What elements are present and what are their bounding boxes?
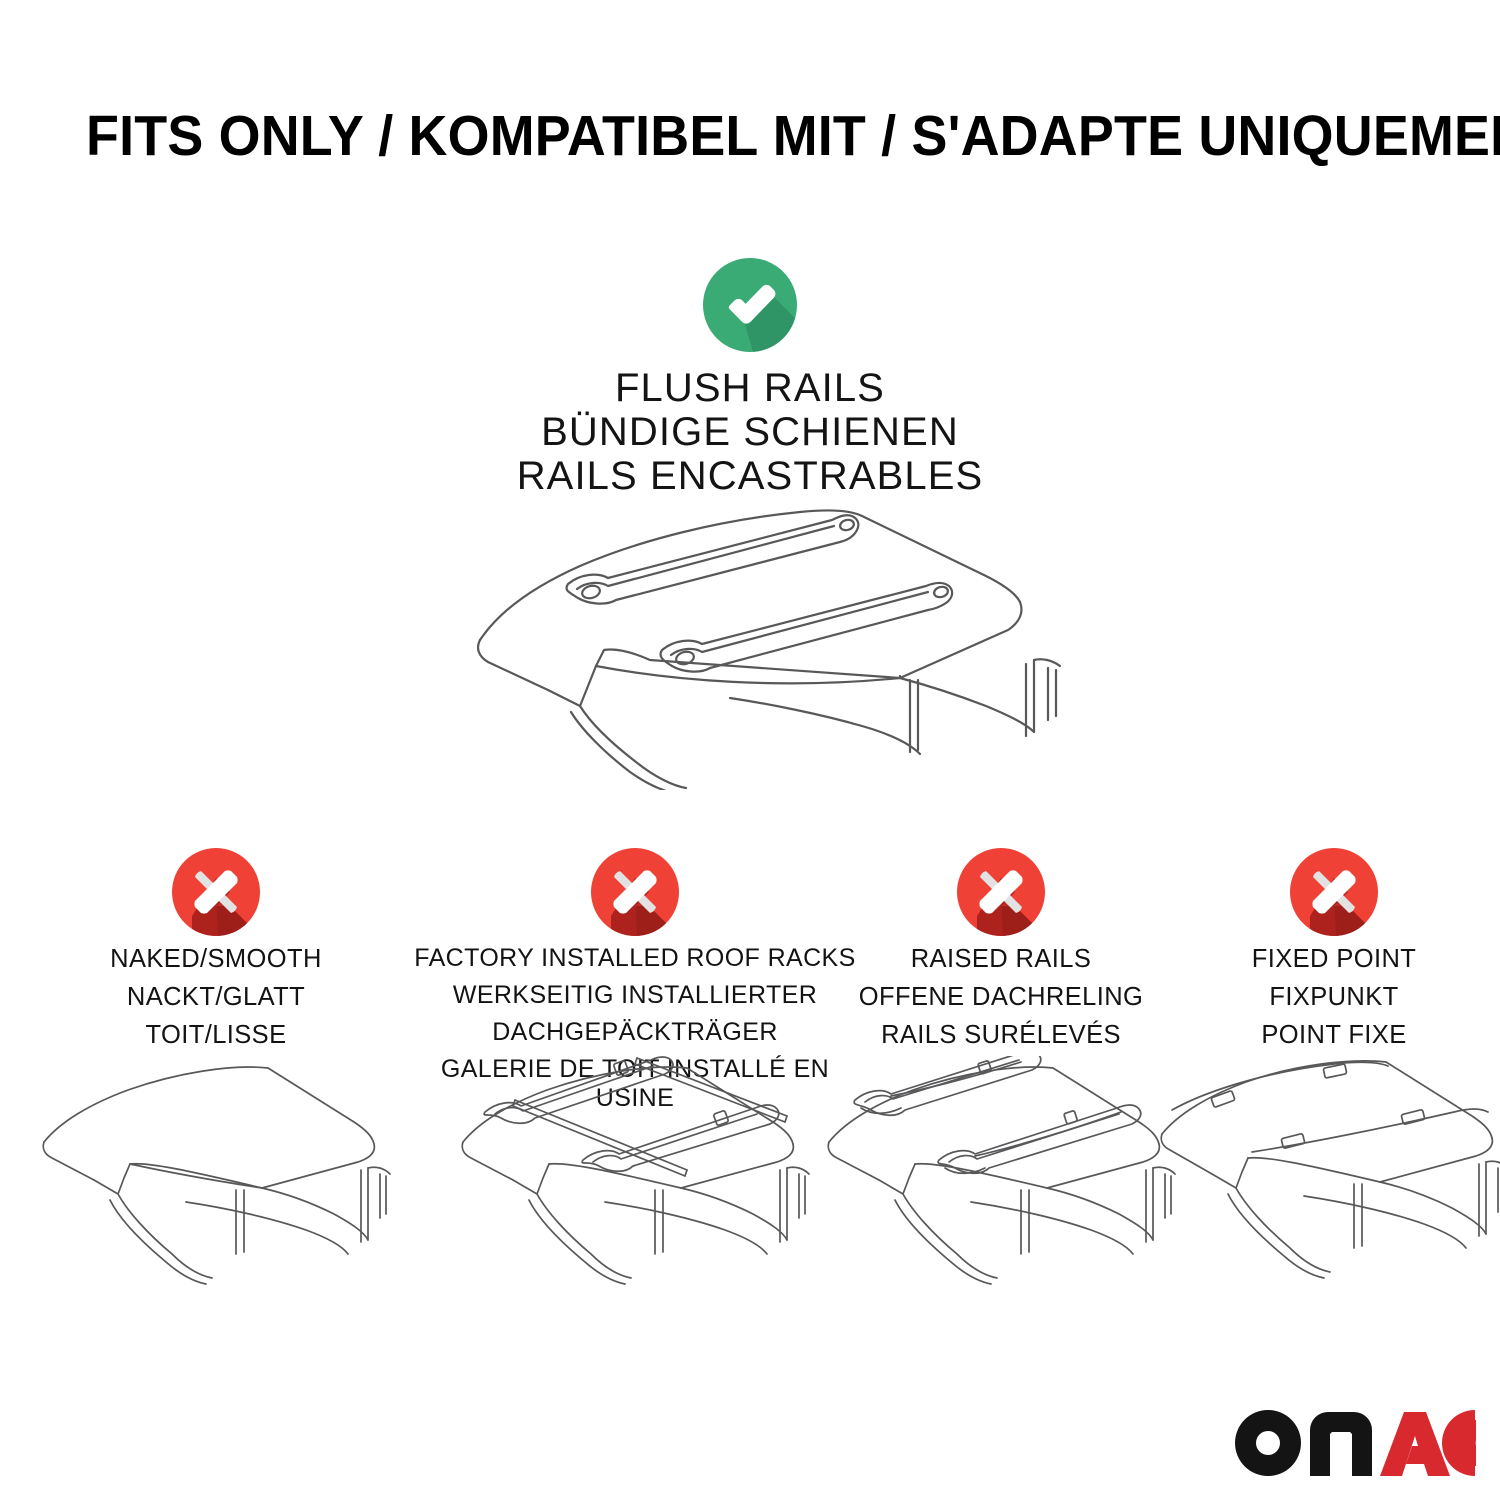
incompatible-label-line-3: RAILS SURÉLEVÉS xyxy=(838,1020,1164,1050)
incompatible-section: NAKED/SMOOTH NACKT/GLATT TOIT/LISSE xyxy=(0,848,1500,1488)
cross-circle-icon xyxy=(957,848,1045,936)
car-roof-fixed-point-illustration xyxy=(1154,1056,1500,1306)
incompatible-label-line-1: FACTORY INSTALLED ROOF RACKS xyxy=(400,944,870,973)
incompatible-label-line-2: OFFENE DACHRELING xyxy=(838,982,1164,1012)
compatible-label-line-1: FLUSH RAILS xyxy=(0,366,1500,410)
incompatible-item-factory-roof-racks: FACTORY INSTALLED ROOF RACKS WERKSEITIG … xyxy=(400,848,870,1113)
car-roof-raised-rails-illustration xyxy=(821,1056,1181,1306)
incompatible-item-fixed-point: FIXED POINT FIXPUNKT POINT FIXE xyxy=(1176,848,1492,1050)
incompatible-label-line-2: WERKSEITIG INSTALLIERTER xyxy=(400,981,870,1010)
incompatible-item-raised-rails: RAISED RAILS OFFENE DACHRELING RAILS SUR… xyxy=(838,848,1164,1050)
incompatible-label-line-1: RAISED RAILS xyxy=(838,944,1164,974)
car-roof-flush-rails-illustration xyxy=(430,490,1090,790)
incompatible-item-naked-smooth: NAKED/SMOOTH NACKT/GLATT TOIT/LISSE xyxy=(40,848,392,1050)
incompatible-label-line-1: NAKED/SMOOTH xyxy=(40,944,392,974)
incompatible-label-line-3: TOIT/LISSE xyxy=(40,1020,392,1050)
compatible-section: FLUSH RAILS BÜNDIGE SCHIENEN RAILS ENCAS… xyxy=(0,258,1500,498)
incompatible-label-line-3: POINT FIXE xyxy=(1176,1020,1492,1050)
page-title: FITS ONLY / KOMPATIBEL MIT / S'ADAPTE UN… xyxy=(86,104,1352,168)
check-circle-icon xyxy=(703,258,797,352)
incompatible-label-line-2: FIXPUNKT xyxy=(1176,982,1492,1012)
car-roof-factory-rack-illustration xyxy=(455,1056,815,1306)
car-roof-naked-illustration xyxy=(36,1056,396,1306)
cross-circle-icon xyxy=(591,848,679,936)
fitment-compatibility-graphic: FITS ONLY / KOMPATIBEL MIT / S'ADAPTE UN… xyxy=(0,0,1500,1500)
cross-circle-icon xyxy=(172,848,260,936)
omac-logo xyxy=(1232,1408,1476,1478)
compatible-label-line-2: BÜNDIGE SCHIENEN xyxy=(0,410,1500,454)
cross-circle-icon xyxy=(1290,848,1378,936)
incompatible-label-line-3: DACHGEPÄCKTRÄGER xyxy=(400,1018,870,1047)
incompatible-label-line-2: NACKT/GLATT xyxy=(40,982,392,1012)
incompatible-label-line-1: FIXED POINT xyxy=(1176,944,1492,974)
